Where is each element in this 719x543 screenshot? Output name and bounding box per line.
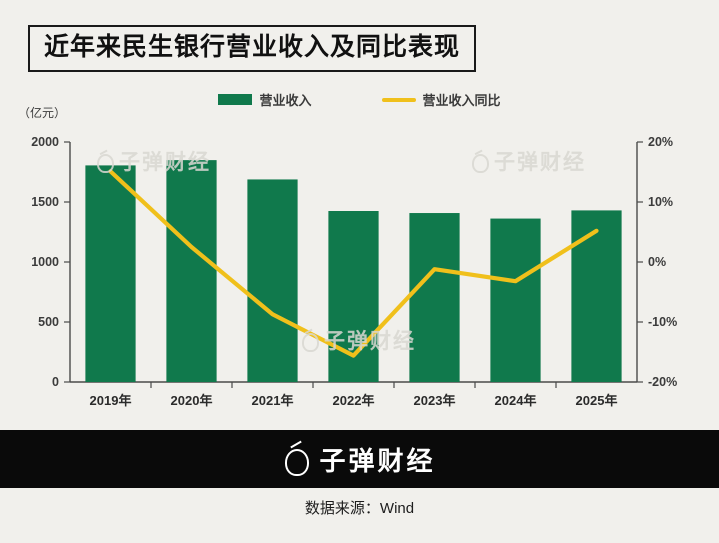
y-axis-left-tick-label: 0 [52, 375, 59, 389]
brand-name: 子弹财经 [319, 441, 435, 478]
x-axis-tick-label: 2022年 [333, 393, 375, 408]
x-axis-tick-label: 2023年 [414, 393, 456, 408]
bar [166, 160, 216, 382]
bar [85, 165, 135, 382]
footer-brand-bar: 子弹财经 [0, 430, 719, 488]
y-axis-left-tick-label: 2000 [31, 135, 59, 149]
y-axis-left-tick-label: 500 [38, 315, 59, 329]
y-axis-right-tick-label: -10% [648, 315, 677, 329]
x-axis-tick-label: 2019年 [90, 393, 132, 408]
chart-plot-area: 200015001000500020%10%0%-10%-20% 2019年20… [0, 0, 719, 420]
x-axis-tick-label: 2020年 [171, 393, 213, 408]
y-axis-right-tick-label: -20% [648, 375, 677, 389]
bar [247, 179, 297, 382]
brand-logo-icon [283, 444, 310, 475]
bars-group [85, 160, 621, 382]
y-axis-right-tick-label: 10% [648, 195, 673, 209]
bar [409, 213, 459, 382]
data-source-label: 数据来源：Wind [0, 497, 719, 518]
x-axis-tick-label: 2021年 [252, 393, 294, 408]
bar [571, 210, 621, 382]
y-axis-right-tick-label: 0% [648, 255, 666, 269]
chart-page: 近年来民生银行营业收入及同比表现 营业收入 营业收入同比 （亿元） 200015… [0, 0, 719, 543]
y-axis-left-tick-label: 1500 [31, 195, 59, 209]
y-axis-left-tick-label: 1000 [31, 255, 59, 269]
x-axis-tick-label: 2024年 [495, 393, 537, 408]
bar [490, 219, 540, 382]
y-axis-right-tick-label: 20% [648, 135, 673, 149]
x-axis-tick-label: 2025年 [576, 393, 618, 408]
x-axis-labels-group: 2019年2020年2021年2022年2023年2024年2025年 [90, 393, 618, 408]
chart-svg: 200015001000500020%10%0%-10%-20% 2019年20… [0, 0, 719, 420]
